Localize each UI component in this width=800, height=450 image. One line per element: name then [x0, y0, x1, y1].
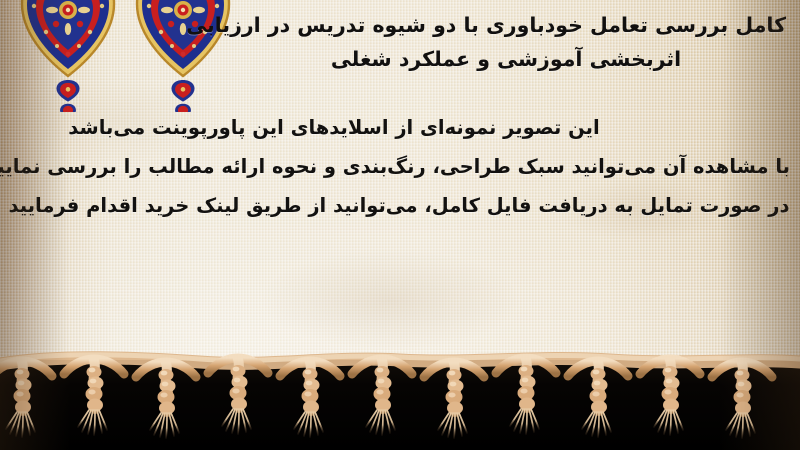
carpet-fringe-band [0, 360, 800, 450]
body-line-3: در صورت تمایل به دریافت فایل کامل، می‌تو… [8, 186, 790, 225]
body-line-2: با مشاهده آن می‌توانید سبک طراحی، رنگ‌بن… [8, 147, 790, 186]
slide-title-line-2: اثربخشی آموزشی و عملکرد شغلی [226, 42, 786, 76]
body-line-1: این تصویر نمونه‌ای از اسلایدهای این پاور… [8, 108, 790, 147]
fringe-tassel-row [0, 358, 772, 438]
slide-body-text: این تصویر نمونه‌ای از اسلایدهای این پاور… [8, 108, 790, 225]
slide-title-line-1: کامل بررسی تعامل خودباوری با دو شیوه تدر… [226, 8, 786, 42]
presentation-slide: کامل بررسی تعامل خودباوری با دو شیوه تدر… [0, 0, 800, 450]
carpet-fringe-icon [0, 346, 800, 450]
slide-title: کامل بررسی تعامل خودباوری با دو شیوه تدر… [226, 8, 786, 76]
